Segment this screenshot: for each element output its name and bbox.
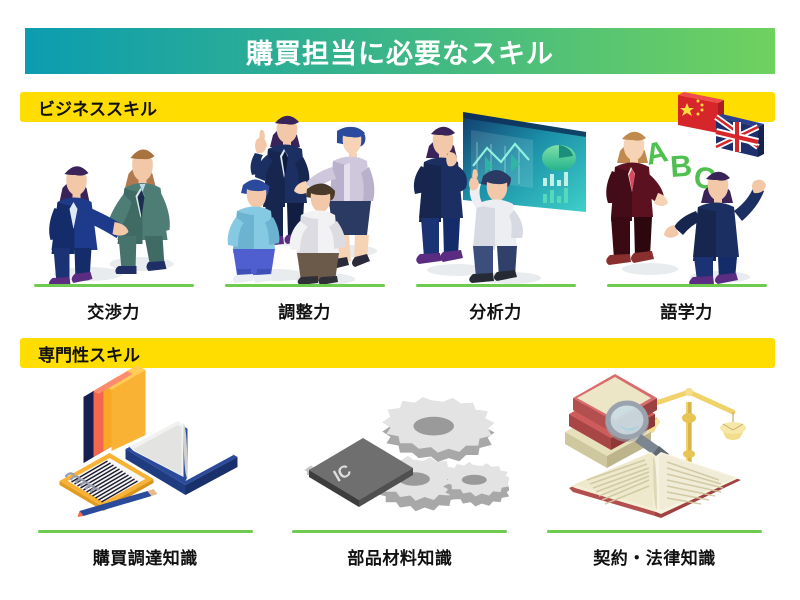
page-title-bar: 購買担当に必要なスキル	[25, 28, 775, 74]
skill-card-materials[interactable]: IC 部品材料知識	[273, 374, 528, 569]
skill-card-legal[interactable]: 契約・法律知識	[527, 374, 782, 569]
card-rule	[547, 530, 762, 533]
handshake-illustration	[18, 128, 209, 284]
skill-card-analysis[interactable]: 分析力	[400, 128, 591, 323]
skill-label-negotiation: 交渉力	[87, 298, 140, 323]
skill-label-analysis: 分析力	[469, 298, 522, 323]
infographic-canvas: 購買担当に必要なスキル ビジネススキル	[0, 0, 800, 600]
svg-text:B: B	[669, 150, 693, 184]
skill-label-language: 語学力	[660, 298, 713, 323]
card-rule	[292, 530, 507, 533]
dashboard-analysis-illustration	[400, 128, 591, 284]
skill-card-coordination[interactable]: 調整力	[209, 128, 400, 323]
section-header-business-label: ビジネススキル	[38, 95, 157, 120]
skill-card-language[interactable]: A B C	[591, 128, 782, 323]
skill-label-coordination: 調整力	[278, 298, 331, 323]
skill-label-materials: 部品材料知識	[347, 544, 452, 569]
skill-label-legal: 契約・法律知識	[593, 544, 716, 569]
language-flags-illustration: A B C	[591, 128, 782, 284]
business-skills-row: 交渉力	[18, 128, 782, 323]
books-notebook-illustration	[18, 374, 273, 530]
card-rule	[34, 284, 194, 287]
card-rule	[38, 530, 253, 533]
skill-card-procurement[interactable]: 購買調達知識	[18, 374, 273, 569]
law-books-scales-illustration	[527, 374, 782, 530]
card-rule	[225, 284, 385, 287]
card-rule	[416, 284, 576, 287]
skill-label-procurement: 購買調達知識	[93, 544, 198, 569]
expert-skills-row: 購買調達知識	[18, 374, 782, 569]
skill-card-negotiation[interactable]: 交渉力	[18, 128, 209, 323]
page-title: 購買担当に必要なスキル	[246, 32, 554, 71]
section-header-expert-label: 専門性スキル	[38, 341, 140, 366]
team-discussion-illustration	[209, 128, 400, 284]
ic-chip-gears-illustration: IC	[273, 374, 528, 530]
card-rule	[607, 284, 767, 287]
